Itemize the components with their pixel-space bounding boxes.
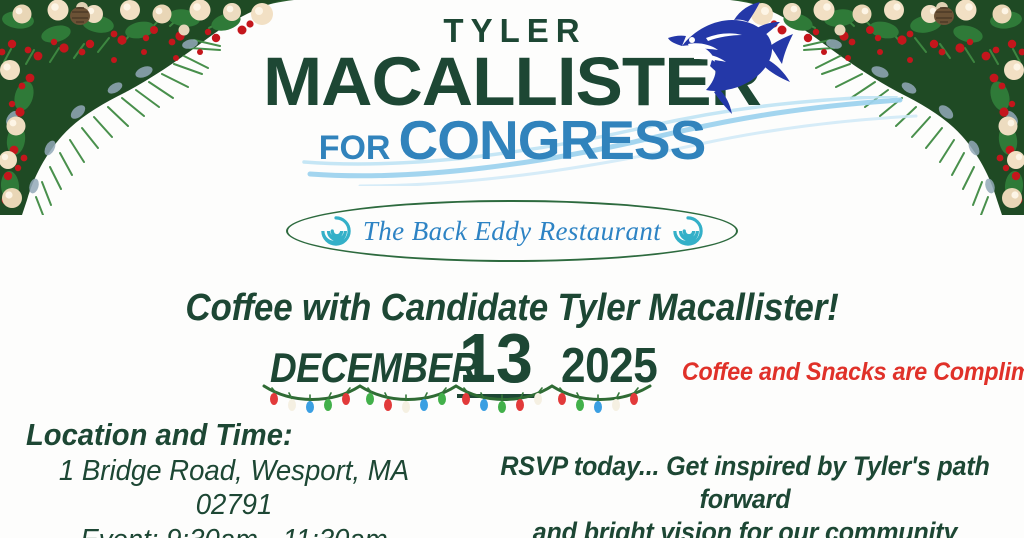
event-date-day: 13 [457,323,535,398]
eddy-spiral-right-icon [673,216,703,246]
venue-badge: The Back Eddy Restaurant [286,200,738,262]
event-date-year: 2025 [561,338,657,394]
venue-name: The Back Eddy Restaurant [363,216,661,247]
logo-office-line: FORCONGRESS [0,113,1024,168]
logo-for-word: FOR [319,129,391,167]
location-address: 1 Bridge Road, Wesport, MA 02791 [25,454,443,522]
rsvp-message: RSVP today... Get inspired by Tyler's pa… [489,450,1001,538]
location-time: Event: 9:30am - 11:30am [25,523,443,538]
location-and-time: Location and Time: 1 Bridge Road, Wespor… [14,418,454,538]
rsvp-line-1: RSVP today... Get inspired by Tyler's pa… [489,450,1001,516]
campaign-logo: TYLER MACALLISTER FORCONGRESS [0,14,1024,168]
campaign-event-flyer: TYLER MACALLISTER FORCONGRESS [0,0,1024,538]
location-heading: Location and Time: [26,418,428,453]
event-date-month: DECEMBER [270,344,478,392]
leaping-fish-icon [668,2,793,114]
eddy-spiral-left-icon [321,216,351,246]
complimentary-note: Coffee and Snacks are Complimentary! [682,358,998,387]
rsvp-line-2: and bright vision for our community [489,516,1001,538]
logo-last-name: MACALLISTER [0,49,1024,115]
event-date: DECEMBER 13 2025 [258,336,678,398]
